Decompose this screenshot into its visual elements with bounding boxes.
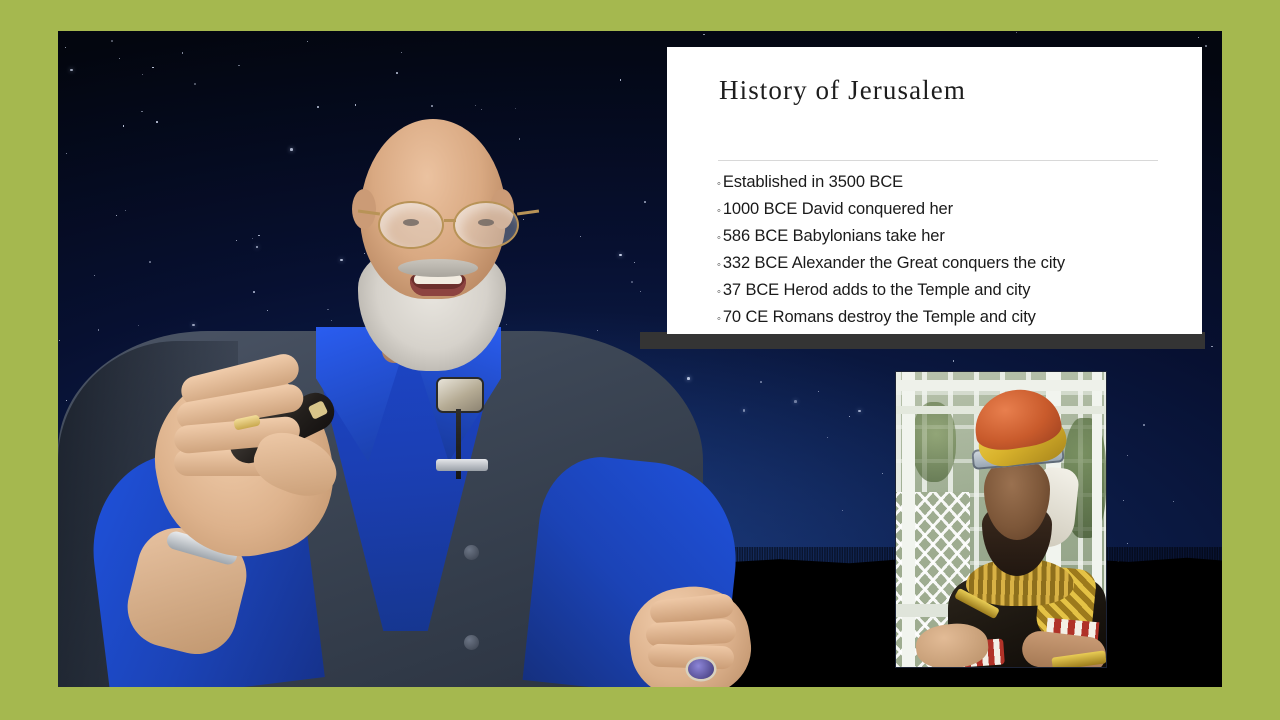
vest-button-upper — [464, 545, 479, 560]
slide-bullet: ◦1000 BCE David conquered her — [717, 197, 1187, 224]
presenter-figure — [58, 31, 718, 687]
bolo-tie-ornament — [438, 379, 482, 411]
tie-bar — [436, 459, 488, 471]
star — [1127, 455, 1128, 456]
star — [858, 410, 861, 413]
slide-drop-shadow-bar — [640, 332, 1205, 349]
slide-bullet: ◦Established in 3500 BCE — [717, 170, 1187, 197]
slide-bullet-text: 332 BCE Alexander the Great conquers the… — [723, 251, 1065, 276]
star — [743, 409, 746, 412]
star — [760, 381, 762, 383]
bullet-marker-icon: ◦ — [717, 253, 721, 278]
star — [1143, 424, 1145, 426]
slide-bullet: ◦70 CE Romans destroy the Temple and cit… — [717, 305, 1187, 332]
eyeglass-temple-right — [517, 209, 539, 215]
slide-bullet-text: 1000 BCE David conquered her — [723, 197, 953, 222]
slide-bullet: ◦332 BCE Alexander the Great conquers th… — [717, 251, 1187, 278]
star — [1016, 32, 1017, 33]
bullet-marker-icon: ◦ — [717, 307, 721, 332]
herod-painting — [896, 372, 1106, 667]
star — [1198, 37, 1199, 38]
bullet-marker-icon: ◦ — [717, 226, 721, 251]
blue-stone-ring — [688, 659, 714, 679]
star — [953, 360, 955, 362]
pavilion-post — [902, 372, 915, 667]
slide-bullet: ◦37 BCE Herod adds to the Temple and cit… — [717, 278, 1187, 305]
foliage-left — [912, 402, 956, 482]
presentation-slide: History of Jerusalem ◦Established in 350… — [667, 47, 1202, 334]
eyeglass-lens-right — [453, 201, 519, 249]
slide-bullet-text: 586 BCE Babylonians take her — [723, 224, 945, 249]
slide-bullet-text: 70 CE Romans destroy the Temple and city — [723, 305, 1036, 330]
slide-bullet-text: Established in 3500 BCE — [723, 170, 903, 195]
bullet-marker-icon: ◦ — [717, 172, 721, 197]
eyeglass-bridge — [444, 219, 456, 222]
bullet-marker-icon: ◦ — [717, 280, 721, 305]
slide-title: History of Jerusalem — [719, 75, 966, 106]
eyeglass-lens-left — [378, 201, 444, 249]
star — [1127, 543, 1128, 544]
video-frame: History of Jerusalem ◦Established in 350… — [58, 31, 1222, 687]
star — [882, 473, 883, 474]
star — [1205, 45, 1207, 47]
slide-bullet-text: 37 BCE Herod adds to the Temple and city — [723, 278, 1031, 303]
slide-bullet-list: ◦Established in 3500 BCE◦1000 BCE David … — [717, 170, 1187, 332]
pavilion-beam — [896, 380, 1106, 391]
slide-divider — [718, 160, 1158, 161]
slide-bullet: ◦586 BCE Babylonians take her — [717, 224, 1187, 251]
ear-left — [352, 189, 376, 229]
moustache — [398, 259, 478, 277]
bullet-marker-icon: ◦ — [717, 199, 721, 224]
star — [794, 400, 797, 403]
vest-button-lower — [464, 635, 479, 650]
star — [842, 510, 843, 511]
